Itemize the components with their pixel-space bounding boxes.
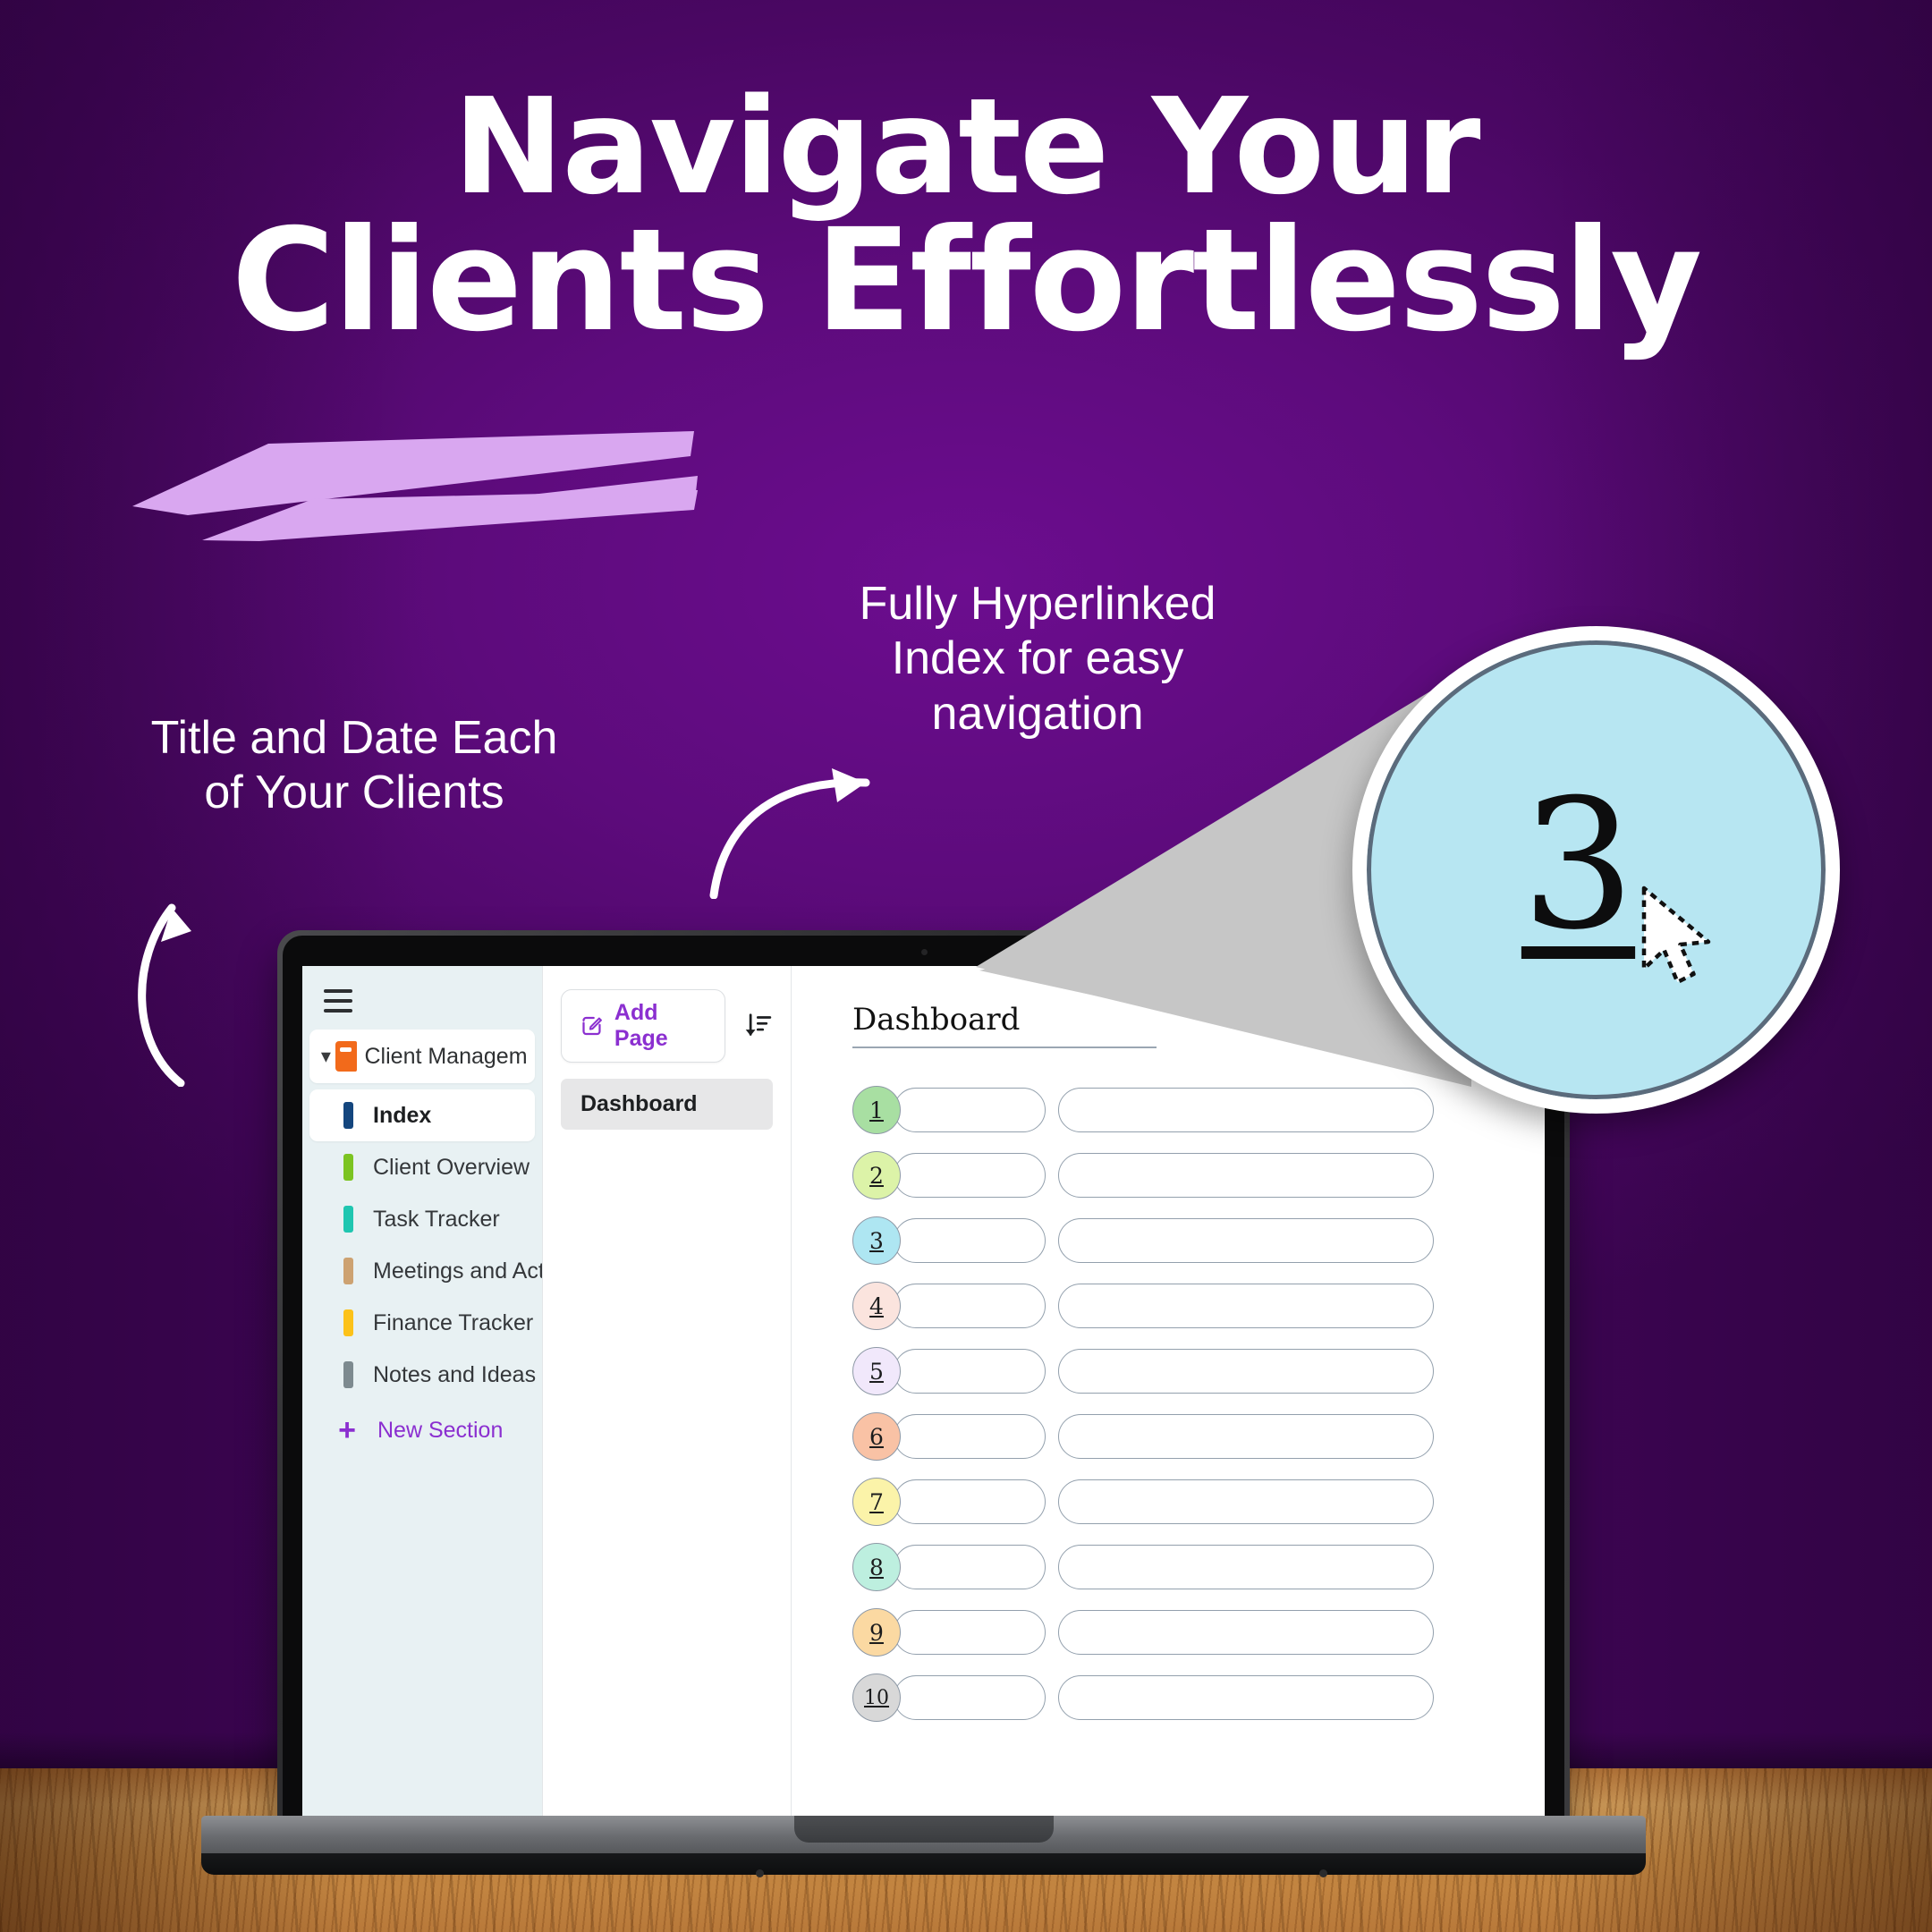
new-section-button[interactable]: + New Section bbox=[309, 1404, 535, 1456]
magnifier-loupe: 3 bbox=[1352, 626, 1840, 1114]
headline-underline-swoosh bbox=[125, 420, 698, 541]
page-list-panel: Add Page Dashboard bbox=[542, 966, 791, 1821]
index-number-bubble[interactable]: 2 bbox=[852, 1151, 901, 1199]
laptop-foot bbox=[756, 1869, 764, 1877]
magnified-index-number: 3 bbox=[1521, 776, 1635, 955]
sidebar-item-client-overview[interactable]: Client Overview bbox=[309, 1141, 535, 1193]
client-name-field[interactable] bbox=[894, 1545, 1046, 1589]
sidebar-item-label: Meetings and Act... bbox=[373, 1258, 563, 1284]
client-detail-field[interactable] bbox=[1058, 1349, 1434, 1394]
hamburger-icon[interactable] bbox=[324, 989, 352, 1019]
arrow-cursor-icon bbox=[1639, 885, 1719, 993]
client-name-field[interactable] bbox=[894, 1675, 1046, 1720]
arrow-left-icon bbox=[125, 881, 241, 1087]
sidebar-item-meetings-and-activities[interactable]: Meetings and Act... bbox=[309, 1245, 535, 1297]
sidebar-item-label: Notes and Ideas bbox=[373, 1362, 536, 1388]
index-row[interactable]: 7 bbox=[852, 1478, 1491, 1526]
sidebar-item-label: Finance Tracker bbox=[373, 1310, 533, 1336]
webcam-icon bbox=[921, 949, 928, 955]
new-section-label: New Section bbox=[377, 1418, 503, 1444]
callout-left: Title and Date Each of Your Clients bbox=[68, 711, 640, 821]
index-number-bubble[interactable]: 10 bbox=[852, 1674, 901, 1722]
sidebar: ▾ Client Management... Index Client O bbox=[302, 966, 542, 1821]
sidebar-item-task-tracker[interactable]: Task Tracker bbox=[309, 1193, 535, 1245]
plus-icon: + bbox=[331, 1415, 363, 1445]
sidebar-item-index[interactable]: Index bbox=[309, 1089, 535, 1141]
page-list-item-dashboard[interactable]: Dashboard bbox=[561, 1079, 773, 1130]
client-name-field[interactable] bbox=[894, 1349, 1046, 1394]
sidebar-item-label: Index bbox=[373, 1103, 431, 1129]
index-number-bubble[interactable]: 8 bbox=[852, 1543, 901, 1591]
index-row[interactable]: 6 bbox=[852, 1412, 1491, 1461]
laptop-notch bbox=[794, 1816, 1054, 1843]
client-name-field[interactable] bbox=[894, 1610, 1046, 1655]
arrow-right-icon bbox=[707, 756, 894, 899]
section-color-swatch bbox=[343, 1309, 353, 1336]
client-detail-field[interactable] bbox=[1058, 1545, 1434, 1589]
index-number-bubble[interactable]: 9 bbox=[852, 1608, 901, 1657]
sidebar-item-label: Client Overview bbox=[373, 1155, 530, 1181]
callout-left-line-2: of Your Clients bbox=[68, 766, 640, 820]
client-detail-field[interactable] bbox=[1058, 1610, 1434, 1655]
sidebar-item-label: Task Tracker bbox=[373, 1207, 500, 1233]
sort-descending-icon[interactable] bbox=[743, 1010, 773, 1042]
section-color-swatch bbox=[343, 1154, 353, 1181]
laptop-foot bbox=[1319, 1869, 1327, 1877]
notebook-header[interactable]: ▾ Client Management... bbox=[309, 1030, 535, 1083]
notebook-icon bbox=[335, 1041, 356, 1072]
section-color-swatch bbox=[343, 1206, 353, 1233]
index-number-bubble[interactable]: 5 bbox=[852, 1347, 901, 1395]
index-row[interactable]: 5 bbox=[852, 1347, 1491, 1395]
headline-line-2: Clients Effortlessly bbox=[54, 212, 1878, 351]
index-row[interactable]: 8 bbox=[852, 1543, 1491, 1591]
index-number-bubble[interactable]: 1 bbox=[852, 1086, 901, 1134]
index-number-bubble[interactable]: 4 bbox=[852, 1282, 901, 1330]
client-name-field[interactable] bbox=[894, 1479, 1046, 1524]
page-title: Navigate Your Clients Effortlessly bbox=[0, 82, 1932, 351]
index-row[interactable]: 9 bbox=[852, 1608, 1491, 1657]
client-detail-field[interactable] bbox=[1058, 1414, 1434, 1459]
laptop-base-bottom bbox=[201, 1853, 1646, 1875]
callout-right-line-1: Fully Hyperlinked bbox=[787, 577, 1288, 631]
compose-icon bbox=[580, 1013, 604, 1039]
index-number-bubble[interactable]: 6 bbox=[852, 1412, 901, 1461]
index-number-bubble[interactable]: 7 bbox=[852, 1478, 901, 1526]
laptop-base bbox=[201, 1816, 1646, 1885]
index-number-bubble[interactable]: 3 bbox=[852, 1216, 901, 1265]
section-color-swatch bbox=[343, 1102, 353, 1129]
callout-left-line-1: Title and Date Each bbox=[68, 711, 640, 766]
section-color-swatch bbox=[343, 1361, 353, 1388]
add-page-label: Add Page bbox=[614, 1000, 707, 1052]
section-color-swatch bbox=[343, 1258, 353, 1284]
magnifier-circle: 3 bbox=[1352, 626, 1840, 1114]
client-name-field[interactable] bbox=[894, 1414, 1046, 1459]
page-list-item-label: Dashboard bbox=[580, 1091, 698, 1116]
chevron-down-icon[interactable]: ▾ bbox=[318, 1045, 334, 1068]
add-page-button[interactable]: Add Page bbox=[561, 989, 725, 1063]
sidebar-item-finance-tracker[interactable]: Finance Tracker bbox=[309, 1297, 535, 1349]
index-row[interactable]: 10 bbox=[852, 1674, 1491, 1722]
sidebar-item-notes-and-ideas[interactable]: Notes and Ideas bbox=[309, 1349, 535, 1401]
client-detail-field[interactable] bbox=[1058, 1675, 1434, 1720]
client-detail-field[interactable] bbox=[1058, 1479, 1434, 1524]
notebook-title: Client Management... bbox=[365, 1044, 527, 1070]
